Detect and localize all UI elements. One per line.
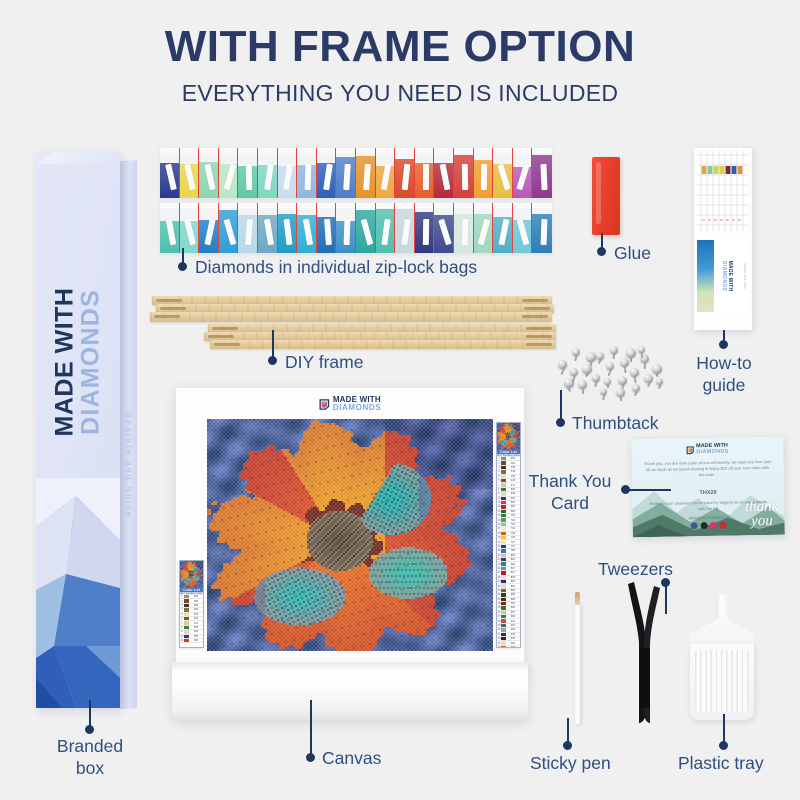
color-lot-legend-right: Color Lot No | Symbol | Color 1832230039… (496, 422, 521, 648)
thumbtack-head (606, 362, 614, 370)
sticky-pen-label: Sticky pen (530, 752, 611, 774)
how-to-guide-label: How-to guide (678, 352, 770, 397)
plastic-tray-label: Plastic tray (678, 752, 764, 774)
bag-zip-seal (180, 148, 199, 153)
diy-frame-label: DIY frame (285, 351, 363, 373)
legend-color-code: 800 (506, 554, 520, 557)
stick-notch (522, 315, 548, 318)
bag-zip-seal (160, 148, 179, 153)
bag-zip-seal (336, 203, 355, 208)
legend-color-code: 434 (189, 608, 203, 611)
tray-ridges (695, 650, 749, 712)
legend-color-code: 712 (506, 527, 520, 530)
thumbtack-head (618, 376, 627, 385)
guide-brand-logo: MADE WITH DIAMONDS (721, 261, 733, 292)
bag-zip-seal (297, 148, 316, 153)
legend-color-code: 938 (189, 604, 203, 607)
bag-label-tag (540, 219, 547, 245)
stick-notch (526, 343, 552, 346)
frame-stick (210, 340, 556, 349)
canvas-brand-logo: MADE WITH DIAMONDS (319, 396, 381, 412)
bag-zip-seal (493, 203, 512, 208)
bag-label-tag (481, 164, 487, 190)
how-to-guide-item: 121824 303642 48 MADE WITH DIAMONDS Spar… (694, 148, 752, 330)
stick-notch (156, 299, 182, 302)
thumbtack-head (572, 348, 580, 356)
thumbtack-head (570, 368, 578, 376)
thumbtack (592, 374, 600, 387)
legend-color-code: 921 (506, 620, 520, 623)
branded-box: Sparkle and Shine MADE WITH DIAMONDS (36, 152, 138, 722)
pinterest-icon (710, 522, 717, 529)
bag-zip-seal (532, 203, 552, 208)
pen-tip (575, 592, 580, 605)
bag-zip-seal (395, 203, 414, 208)
thumbtack-head (604, 378, 611, 385)
instagram-icon (700, 522, 707, 529)
thumbtack (558, 360, 567, 374)
bag-zip-seal (356, 148, 375, 153)
diamonds-bags-label: Diamonds in individual zip-lock bags (195, 256, 477, 278)
diamond-bag (415, 148, 435, 198)
sticky-pen-item (572, 592, 582, 724)
box-side-panel: Sparkle and Shine (120, 160, 137, 709)
legend-color-code: 801 (506, 558, 520, 561)
thumbtack (632, 384, 640, 397)
diamond-bag (238, 148, 258, 198)
legend-color-code: 909 (506, 615, 520, 618)
bag-zip-seal (336, 148, 355, 153)
diamond-bag (278, 148, 298, 198)
legend-thumbnail (180, 561, 203, 587)
legend-color-code: 818 (506, 576, 520, 579)
diamond-bag (219, 203, 239, 253)
thumbtack-head (652, 364, 662, 374)
diamond-bag (493, 203, 513, 253)
glue-leader (601, 233, 603, 249)
legend-color-code: 820 (506, 580, 520, 583)
legend-thumbnail (497, 423, 520, 449)
diamond-bag (532, 203, 552, 253)
legend-rows-left: 1832230039384434544564337472850595431055… (180, 595, 203, 643)
bag-zip-seal (219, 148, 238, 153)
legend-color-code: 938 (506, 466, 520, 469)
guide-fine-print: Sparkle and Shine (743, 263, 747, 289)
thumbtack-head (586, 352, 596, 362)
stick-notch (214, 343, 240, 346)
legend-color-code: 445 (189, 613, 203, 616)
legend-color-code: 543 (506, 492, 520, 495)
bag-zip-seal (434, 148, 453, 153)
thumbtack-head (578, 380, 587, 389)
legend-color-code: 945 (506, 642, 520, 645)
tweezers-leader (665, 586, 667, 614)
diamond-bag (238, 203, 258, 253)
thumbtack-head (632, 384, 640, 392)
bag-zip-seal (454, 203, 473, 208)
canvas-label: Canvas (322, 747, 381, 769)
diamond-bag (356, 148, 376, 198)
diamond-bag (297, 148, 317, 198)
legend-color-code: 550 (506, 497, 520, 500)
stick-notch (526, 335, 552, 338)
diamond-bag (278, 203, 298, 253)
thumbtack-head (592, 374, 600, 382)
legend-color-code: 938 (506, 637, 520, 640)
color-lot-legend-left: Color Lot No | Symbol | Color 1832230039… (179, 560, 204, 648)
guide-color-table: 121824 303642 48 (697, 151, 749, 231)
bag-row-bottom (160, 203, 552, 253)
thumbtack-head (600, 388, 607, 395)
legend-color-code: 725 (506, 536, 520, 539)
legend-color-code: 898 (506, 598, 520, 601)
legend-color-code: 902 (506, 602, 520, 605)
legend-row: 11606 (180, 639, 203, 643)
tweezers-item (620, 582, 666, 724)
diamonds-bags-leader (182, 248, 184, 264)
bag-zip-seal (199, 203, 218, 208)
legend-color-code: 807 (506, 567, 520, 570)
thumbtack-head (616, 388, 625, 397)
thumbtack (578, 380, 587, 394)
box-top-face (36, 152, 120, 164)
diamond-bag (474, 148, 494, 198)
legend-rows-right: 1832230039384434544564337472850595431055… (497, 457, 520, 648)
bag-zip-seal (532, 148, 552, 153)
stick-notch (522, 299, 548, 302)
diamond-bag (336, 203, 356, 253)
stick-notch (526, 327, 552, 330)
box-polygon-pattern (36, 478, 120, 708)
branded-box-leader (89, 700, 91, 726)
diamond-bag (376, 203, 396, 253)
glue-label: Glue (614, 242, 651, 264)
bag-label-tag (305, 164, 312, 190)
bag-zip-seal (317, 203, 336, 208)
diamond-bag (180, 203, 200, 253)
thumbtack-leader (560, 390, 562, 420)
diamond-logo-icon (319, 399, 330, 410)
diamond-bag (532, 148, 552, 198)
legend-color-code: 720 (506, 532, 520, 535)
legend-color-code: 798 (506, 549, 520, 552)
legend-color-code: 505 (189, 626, 203, 629)
diamond-bag (317, 203, 337, 253)
thumbtack (606, 362, 614, 375)
legend-color-code: 895 (506, 593, 520, 596)
diamond-bag (434, 148, 454, 198)
legend-color-code: 300 (506, 462, 520, 465)
legend-color-code: 505 (506, 488, 520, 491)
legend-color-code: 727 (506, 541, 520, 544)
legend-color-code: 606 (189, 639, 203, 642)
bag-zip-seal (238, 148, 257, 153)
diamond-bag (513, 148, 533, 198)
legend-color-code: 822 (506, 585, 520, 588)
bag-zip-seal (376, 148, 395, 153)
diamond-bag (474, 203, 494, 253)
legend-color-code: 472 (189, 622, 203, 625)
legend-color-code: 934 (506, 633, 520, 636)
bag-label-tag (344, 219, 351, 245)
infographic-stage: WITH FRAME OPTION EVERYTHING YOU NEED IS… (0, 0, 800, 800)
thumbtack-head (596, 352, 604, 360)
bag-label-tag (461, 164, 467, 190)
legend-color-code: 300 (189, 600, 203, 603)
bag-label-tag (461, 219, 468, 245)
legend-color-code: 704 (506, 523, 520, 526)
legend-color-code: 666 (506, 505, 520, 508)
legend-color-code: 817 (506, 571, 520, 574)
canvas-artwork (207, 419, 493, 651)
glue-item (592, 157, 620, 235)
diamond-bag (199, 148, 219, 198)
card-thank-you-script: thank you (745, 501, 779, 529)
diamond-bag (356, 203, 376, 253)
branded-box-dot (85, 725, 94, 734)
bag-label-tag (422, 219, 428, 245)
bag-label-tag (246, 164, 253, 190)
guide-cover-card: MADE WITH DIAMONDS Sparkle and Shine (697, 240, 749, 312)
bag-zip-seal (395, 148, 414, 153)
bag-zip-seal (356, 203, 375, 208)
guide-landscape-photo (697, 240, 714, 312)
bag-zip-seal (317, 148, 336, 153)
thumbtack-label: Thumbtack (572, 412, 659, 434)
thumbtack (570, 368, 578, 381)
bag-zip-seal (415, 203, 434, 208)
branded-box-label: Branded box (44, 735, 136, 780)
legend-color-code: 550 (189, 635, 203, 638)
legend-row: 44946 (497, 646, 520, 648)
thumbtack (626, 348, 636, 363)
bag-zip-seal (199, 148, 218, 153)
stick-notch (160, 307, 186, 310)
bag-zip-seal (454, 148, 473, 153)
diamond-bag (376, 148, 396, 198)
diamond-bag (199, 203, 219, 253)
legend-color-code: 806 (506, 563, 520, 566)
bag-zip-seal (278, 148, 297, 153)
bag-zip-seal (180, 203, 199, 208)
legend-color-code: 699 (506, 510, 520, 513)
page-subtitle: EVERYTHING YOU NEED IS INCLUDED (0, 80, 800, 107)
canvas-rolled-tube (172, 662, 528, 720)
legend-color-code: 433 (506, 479, 520, 482)
diamond-bag (415, 203, 435, 253)
stick-notch (208, 335, 234, 338)
thank-you-card: MADE WITH DIAMONDS Thank you, you are no… (631, 437, 785, 538)
legend-color-code: 907 (506, 611, 520, 614)
legend-color-code: 832 (189, 595, 203, 598)
diy-frame-leader (272, 330, 274, 358)
legend-color-code: 700 (506, 514, 520, 517)
thumbtack (572, 348, 580, 361)
diamond-bag (434, 203, 454, 253)
legend-color-code: 434 (506, 470, 520, 473)
card-brand-logo: MADE WITH DIAMONDS (686, 444, 729, 456)
bag-zip-seal (297, 203, 316, 208)
thumbtack-head (656, 378, 663, 385)
box-front-panel: MADE WITH DIAMONDS (36, 152, 120, 708)
bag-zip-seal (160, 203, 179, 208)
stick-notch (212, 327, 238, 330)
bag-zip-seal (415, 148, 434, 153)
thumbtack (630, 368, 639, 382)
page-title: WITH FRAME OPTION (0, 22, 800, 72)
sticky-pen-leader (567, 718, 569, 744)
diamond-bag (160, 148, 180, 198)
legend-color-code: 905 (506, 606, 520, 609)
bag-zip-seal (219, 203, 238, 208)
plastic-tray-item (687, 594, 757, 722)
bag-row-top (160, 148, 552, 198)
legend-color-code: 946 (506, 646, 520, 648)
bag-zip-seal (513, 203, 532, 208)
legend-color-code: 869 (506, 589, 520, 592)
diamond-bag (454, 148, 474, 198)
diamond-bag (395, 203, 415, 253)
thumbtack-head (630, 368, 639, 377)
legend-color-code: 606 (506, 501, 520, 504)
thumbtack (638, 346, 645, 358)
thumbtack (586, 352, 596, 367)
bag-zip-seal (474, 148, 493, 153)
thumbtack (616, 388, 625, 402)
legend-color-code: 702 (506, 519, 520, 522)
legend-color-code: 472 (506, 484, 520, 487)
plastic-tray-leader (723, 714, 725, 744)
tweezers-label: Tweezers (598, 558, 673, 580)
bag-label-tag (324, 219, 332, 245)
bag-zip-seal (238, 203, 257, 208)
frame-stick (150, 312, 552, 322)
pen-body (574, 602, 581, 724)
thumbtack (596, 352, 604, 365)
bag-zip-seal (513, 148, 532, 153)
bag-zip-seal (434, 203, 453, 208)
legend-color-code: 797 (506, 545, 520, 548)
thank-you-card-leader (629, 489, 671, 491)
diamond-bag (395, 148, 415, 198)
bag-zip-seal (493, 148, 512, 153)
thumbtack-head (638, 346, 645, 353)
diamond-bag (297, 203, 317, 253)
stick-notch (154, 315, 180, 318)
stick-notch (524, 307, 550, 310)
canvas-product: MADE WITH DIAMONDS Color Lot No | Symbol… (176, 388, 524, 678)
legend-color-code: 445 (506, 475, 520, 478)
legend-color-code: 543 (189, 630, 203, 633)
card-message: Thank you, you are now a part of our com… (644, 459, 772, 480)
legend-color-code: 433 (189, 617, 203, 620)
box-tagline: Sparkle and Shine (124, 412, 134, 519)
legend-color-code: 832 (506, 457, 520, 460)
diamond-bag (454, 203, 474, 253)
thumbtack-head (558, 360, 567, 369)
diamond-bag (258, 203, 278, 253)
legend-color-code: 926 (506, 628, 520, 631)
how-to-guide-leader (723, 330, 725, 342)
diamond-bag (513, 203, 533, 253)
thumbtack-head (626, 348, 636, 358)
bag-zip-seal (376, 203, 395, 208)
box-brand-text: MADE WITH DIAMONDS (53, 288, 104, 437)
thumbtack (600, 388, 607, 400)
diamond-bag (493, 148, 513, 198)
thank-you-card-label: Thank You Card (524, 470, 616, 515)
youtube-icon (719, 522, 726, 529)
thumbtack-pile (552, 344, 668, 400)
thumbtack (652, 364, 662, 379)
diamond-bag (336, 148, 356, 198)
tray-shoulder (690, 616, 754, 646)
canvas-leader (310, 700, 312, 756)
bag-zip-seal (258, 148, 277, 153)
diamond-bag (180, 148, 200, 198)
bag-zip-seal (258, 203, 277, 208)
diamond-bag (258, 148, 278, 198)
bag-zip-seal (278, 203, 297, 208)
diamond-bag (160, 203, 180, 253)
diamond-logo-icon (686, 446, 694, 454)
bag-label-tag (540, 164, 547, 190)
thumbtack (610, 346, 618, 359)
thumbtack (656, 378, 663, 390)
bag-label-tag (422, 164, 428, 190)
diamond-bag (317, 148, 337, 198)
diamond-bag (219, 148, 239, 198)
facebook-icon (691, 522, 698, 529)
legend-color-code: 924 (506, 624, 520, 627)
thumbtack-head (610, 346, 618, 354)
bag-zip-seal (474, 203, 493, 208)
